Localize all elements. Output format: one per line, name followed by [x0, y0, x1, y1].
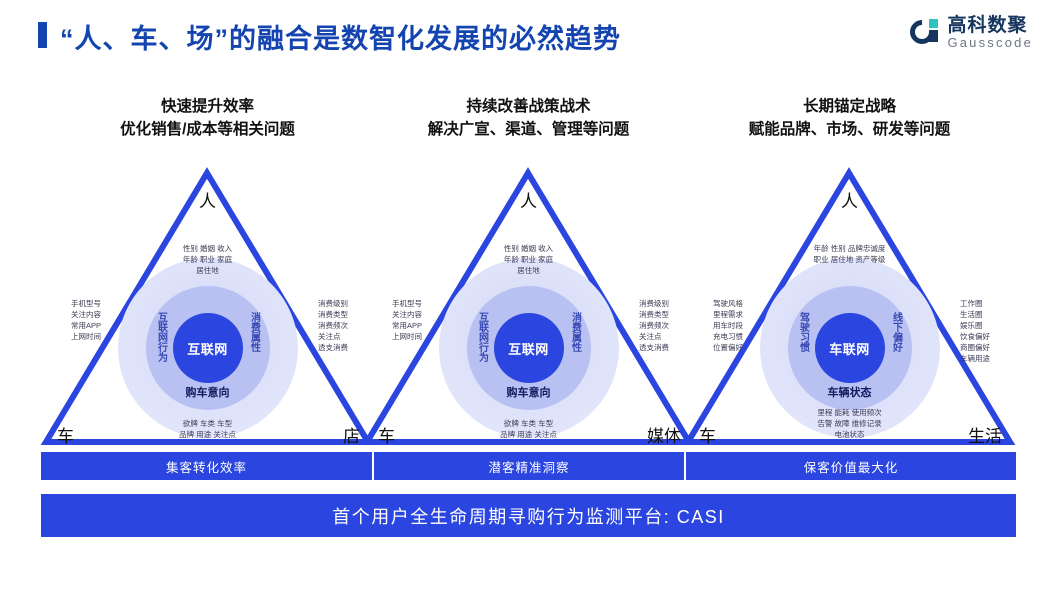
attr-cluster-bottom-0: 欲牌 车类 车型 品牌 用途 关注点	[179, 418, 236, 440]
logo-wordmark: 高科数聚 Gausscode	[947, 16, 1033, 50]
triangle-corner-right-2: 生活	[968, 422, 1002, 447]
platform-banner: 首个用户全生命周期寻购行为监测平台: CASI	[41, 494, 1016, 537]
triangle-corner-right-1: 媒体	[647, 422, 681, 447]
diagram-panel-2: 人 车 生活 用户画像 车辆状态 驾驶习惯 线下偏好 车联网 年龄 性别 品牌忠…	[683, 165, 1016, 450]
attr-left-0-1: 关注内容	[71, 309, 101, 320]
triangle-corner-left-1: 车	[378, 422, 395, 447]
outcome-bar-2: 保客价值最大化	[686, 452, 1016, 480]
ring-vertical-left-1: 互联网行为	[475, 312, 490, 362]
triangle-apex-label-1: 人	[362, 187, 695, 212]
column-heading-2-line1: 长期锚定战略	[683, 95, 1016, 118]
attr-right-0-4: 透支消费	[318, 342, 348, 353]
ring-center-label-2: 车联网	[829, 339, 870, 358]
attr-top-2-0: 年龄 性别 品牌忠诚度	[814, 243, 886, 254]
column-headings: 快速提升效率 优化销售/成本等相关问题 持续改善战策战术 解决广宣、渠道、管理等…	[0, 95, 1057, 155]
concentric-rings-1: 基本属性 购车意向 互联网行为 消费属性 互联网	[439, 258, 619, 438]
attr-left-0-2: 常用APP	[71, 320, 101, 331]
column-heading-1-line2: 解决广宣、渠道、管理等问题	[362, 118, 695, 141]
attr-bottom-2-0: 里程 能耗 使用频次	[817, 407, 881, 418]
ring-bottom-label-2: 车辆状态	[788, 384, 912, 400]
ring-center-label-1: 互联网	[508, 339, 549, 358]
attr-right-2-2: 娱乐圈	[960, 320, 990, 331]
attr-cluster-right-2: 工作圈 生活圈 娱乐圈 饮食偏好 商圈偏好 车辆用途	[960, 298, 990, 364]
ring-bottom-label-1: 购车意向	[467, 384, 591, 400]
ring-vertical-right-1: 消费属性	[568, 312, 583, 352]
ring-vertical-left-2: 驾驶习惯	[796, 312, 811, 352]
attr-cluster-bottom-2: 里程 能耗 使用频次 告警 故障 维修记录 电池状态	[817, 407, 881, 440]
triangle-apex-label-0: 人	[41, 187, 374, 212]
attr-right-0-2: 消费频次	[318, 320, 348, 331]
attr-left-2-3: 充电习惯	[713, 331, 743, 342]
triangle-corner-left-0: 车	[57, 422, 74, 447]
attr-bottom-1-1: 品牌 用途 关注点	[500, 429, 557, 440]
logo-mark-icon	[910, 18, 940, 48]
attr-left-2-0: 驾驶风格	[713, 298, 743, 309]
attr-right-1-1: 消费类型	[639, 309, 669, 320]
outcome-bar-0: 集客转化效率	[41, 452, 372, 480]
attr-right-1-0: 消费级别	[639, 298, 669, 309]
title-accent-bar	[38, 22, 47, 48]
attr-left-1-3: 上网时间	[392, 331, 422, 342]
column-heading-2: 长期锚定战略 赋能品牌、市场、研发等问题	[683, 95, 1016, 141]
column-heading-0-line2: 优化销售/成本等相关问题	[41, 118, 374, 141]
concentric-rings-0: 基本属性 购车意向 互联网行为 消费属性 互联网	[118, 258, 298, 438]
attr-cluster-left-2: 驾驶风格 里程需求 用车时段 充电习惯 位置偏好	[713, 298, 743, 353]
attr-bottom-1-0: 欲牌 车类 车型	[500, 418, 557, 429]
column-heading-1-line1: 持续改善战策战术	[362, 95, 695, 118]
ring-vertical-right-2: 线下偏好	[889, 312, 904, 352]
ring-inner-1: 互联网	[494, 313, 564, 383]
attr-cluster-top-0: 性别 婚姻 收入 年龄 职业 家庭 居住地	[183, 243, 232, 276]
attr-right-1-3: 关注点	[639, 331, 669, 342]
attr-right-0-1: 消费类型	[318, 309, 348, 320]
triangle-corner-right-0: 店	[343, 422, 360, 447]
attr-cluster-top-1: 性别 婚姻 收入 年龄 职业 家庭 居住地	[504, 243, 553, 276]
triangle-corner-left-2: 车	[699, 422, 716, 447]
attr-bottom-2-1: 告警 故障 维修记录	[817, 418, 881, 429]
ring-inner-0: 互联网	[173, 313, 243, 383]
attr-right-2-4: 商圈偏好	[960, 342, 990, 353]
attr-left-2-4: 位置偏好	[713, 342, 743, 353]
triangle-apex-label-2: 人	[683, 187, 1016, 212]
attr-right-2-1: 生活圈	[960, 309, 990, 320]
attr-cluster-right-1: 消费级别 消费类型 消费频次 关注点 透支消费	[639, 298, 669, 353]
attr-left-2-1: 里程需求	[713, 309, 743, 320]
attr-left-2-2: 用车时段	[713, 320, 743, 331]
attr-cluster-left-0: 手机型号 关注内容 常用APP 上网时间	[71, 298, 101, 342]
column-heading-2-line2: 赋能品牌、市场、研发等问题	[683, 118, 1016, 141]
attr-right-1-4: 透支消费	[639, 342, 669, 353]
ring-center-label-0: 互联网	[187, 339, 228, 358]
attr-left-1-1: 关注内容	[392, 309, 422, 320]
ring-vertical-left-0: 互联网行为	[154, 312, 169, 362]
attr-right-0-0: 消费级别	[318, 298, 348, 309]
attr-top-1-0: 性别 婚姻 收入	[504, 243, 553, 254]
ring-vertical-right-0: 消费属性	[247, 312, 262, 352]
attr-top-1-1: 年龄 职业 家庭	[504, 254, 553, 265]
column-heading-0: 快速提升效率 优化销售/成本等相关问题	[41, 95, 374, 141]
ring-inner-2: 车联网	[815, 313, 885, 383]
outcome-bar-1: 潜客精准洞察	[374, 452, 684, 480]
attr-cluster-left-1: 手机型号 关注内容 常用APP 上网时间	[392, 298, 422, 342]
page-header: “人、车、场”的融合是数智化发展的必然趋势 高科数聚 Gausscode	[0, 0, 1057, 68]
attr-right-2-5: 车辆用途	[960, 353, 990, 364]
attr-top-1-2: 居住地	[504, 265, 553, 276]
diagram-panel-0: 人 车 店 基本属性 购车意向 互联网行为 消费属性 互联网 性别 婚姻 收入 …	[41, 165, 374, 450]
attr-bottom-0-0: 欲牌 车类 车型	[179, 418, 236, 429]
attr-right-2-0: 工作圈	[960, 298, 990, 309]
attr-left-0-3: 上网时间	[71, 331, 101, 342]
attr-cluster-bottom-1: 欲牌 车类 车型 品牌 用途 关注点	[500, 418, 557, 440]
attr-left-0-0: 手机型号	[71, 298, 101, 309]
attr-right-1-2: 消费频次	[639, 320, 669, 331]
brand-logo: 高科数聚 Gausscode	[910, 16, 1033, 50]
attr-top-2-1: 职业 居住地 资产等级	[814, 254, 886, 265]
diagram-panel-1: 人 车 媒体 基本属性 购车意向 互联网行为 消费属性 互联网 性别 婚姻 收入…	[362, 165, 695, 450]
attr-right-2-3: 饮食偏好	[960, 331, 990, 342]
attr-cluster-top-2: 年龄 性别 品牌忠诚度 职业 居住地 资产等级	[814, 243, 886, 265]
attr-top-0-1: 年龄 职业 家庭	[183, 254, 232, 265]
attr-left-1-0: 手机型号	[392, 298, 422, 309]
logo-name-en: Gausscode	[947, 36, 1033, 50]
page-title: “人、车、场”的融合是数智化发展的必然趋势	[60, 17, 621, 56]
attr-left-1-2: 常用APP	[392, 320, 422, 331]
logo-navy-square-icon	[929, 30, 938, 42]
ring-bottom-label-0: 购车意向	[146, 384, 270, 400]
attr-top-0-0: 性别 婚姻 收入	[183, 243, 232, 254]
attr-bottom-2-2: 电池状态	[817, 429, 881, 440]
attr-bottom-0-1: 品牌 用途 关注点	[179, 429, 236, 440]
attr-top-0-2: 居住地	[183, 265, 232, 276]
attr-cluster-right-0: 消费级别 消费类型 消费频次 关注点 透支消费	[318, 298, 348, 353]
logo-teal-square-icon	[929, 19, 938, 28]
column-heading-0-line1: 快速提升效率	[41, 95, 374, 118]
column-heading-1: 持续改善战策战术 解决广宣、渠道、管理等问题	[362, 95, 695, 141]
logo-name-cn: 高科数聚	[947, 16, 1033, 36]
attr-right-0-3: 关注点	[318, 331, 348, 342]
